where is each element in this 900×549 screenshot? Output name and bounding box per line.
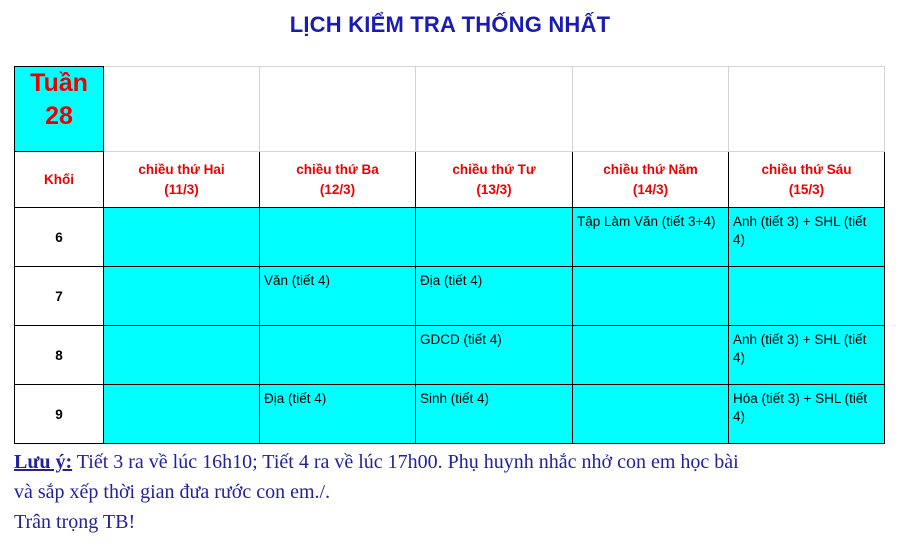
cell-grade7-monday [104,267,260,326]
spacer-cell-3 [416,67,573,152]
footer-note: Lưu ý: Tiết 3 ra về lúc 16h10; Tiết 4 ra… [14,447,894,537]
cell-grade7-tuesday: Văn (tiết 4) [260,267,416,326]
cell-grade6-thursday: Tập Làm Văn (tiết 3+4) [573,208,729,267]
exam-schedule-table: Tuần 28 Khối chiều thứ Hai (11/3) [14,66,885,444]
day-header-tuesday-date: (12/3) [260,180,415,200]
schedule-table-wrapper: Tuần 28 Khối chiều thứ Hai (11/3) [14,66,884,444]
cell-grade6-wednesday [416,208,573,267]
cell-grade8-tuesday [260,326,416,385]
grade-label-9: 9 [15,385,104,444]
day-header-monday-name: chiều thứ Hai [104,160,259,180]
schedule-page: LỊCH KIỂM TRA THỐNG NHẤT Tuần 28 [0,0,900,549]
cell-grade9-thursday [573,385,729,444]
note-line-1-text: Tiết 3 ra về lúc 16h10; Tiết 4 ra về lúc… [72,451,739,473]
cell-grade8-monday [104,326,260,385]
note-line-3: Trân trọng TB! [14,507,894,537]
spacer-cell-4 [573,67,729,152]
cell-grade8-wednesday: GDCD (tiết 4) [416,326,573,385]
cell-grade6-tuesday [260,208,416,267]
day-header-tuesday-name: chiều thứ Ba [260,160,415,180]
day-header-friday: chiều thứ Sáu (15/3) [729,152,885,208]
note-label: Lưu ý: [14,451,72,473]
cell-grade7-friday [729,267,885,326]
day-header-monday: chiều thứ Hai (11/3) [104,152,260,208]
day-header-wednesday: chiều thứ Tư (13/3) [416,152,573,208]
table-row: 8 GDCD (tiết 4) Anh (tiết 3) + SHL (tiết… [15,326,885,385]
note-line-2: và sắp xếp thời gian đưa rước con em./. [14,477,894,507]
table-header-row: Khối chiều thứ Hai (11/3) chiều thứ Ba (… [15,152,885,208]
day-header-thursday-date: (14/3) [573,180,728,200]
spacer-cell-1 [104,67,260,152]
cell-grade8-thursday [573,326,729,385]
table-week-row: Tuần 28 [15,67,885,152]
spacer-cell-5 [729,67,885,152]
cell-grade9-friday: Hóa (tiết 3) + SHL (tiết 4) [729,385,885,444]
cell-grade7-thursday [573,267,729,326]
day-header-monday-date: (11/3) [104,180,259,200]
day-header-thursday-name: chiều thứ Năm [573,160,728,180]
cell-grade9-monday [104,385,260,444]
cell-grade6-monday [104,208,260,267]
cell-grade6-friday: Anh (tiết 3) + SHL (tiết 4) [729,208,885,267]
day-header-friday-name: chiều thứ Sáu [729,160,884,180]
spacer-cell-2 [260,67,416,152]
cell-grade9-tuesday: Địa (tiết 4) [260,385,416,444]
week-cell: Tuần 28 [15,67,104,152]
cell-grade8-friday: Anh (tiết 3) + SHL (tiết 4) [729,326,885,385]
table-row: 9 Địa (tiết 4) Sinh (tiết 4) Hóa (tiết 3… [15,385,885,444]
page-title: LỊCH KIỂM TRA THỐNG NHẤT [0,12,900,38]
week-label: Tuần [15,67,103,100]
cell-grade9-wednesday: Sinh (tiết 4) [416,385,573,444]
grade-label-7: 7 [15,267,104,326]
table-row: 7 Văn (tiết 4) Địa (tiết 4) [15,267,885,326]
day-header-tuesday: chiều thứ Ba (12/3) [260,152,416,208]
note-line-1: Lưu ý: Tiết 3 ra về lúc 16h10; Tiết 4 ra… [14,447,894,477]
day-header-thursday: chiều thứ Năm (14/3) [573,152,729,208]
grade-label-6: 6 [15,208,104,267]
day-header-wednesday-date: (13/3) [416,180,572,200]
day-header-wednesday-name: chiều thứ Tư [416,160,572,180]
cell-grade7-wednesday: Địa (tiết 4) [416,267,573,326]
table-row: 6 Tập Làm Văn (tiết 3+4) Anh (tiết 3) + … [15,208,885,267]
day-header-friday-date: (15/3) [729,180,884,200]
week-number: 28 [15,100,103,133]
grade-column-header: Khối [15,152,104,208]
grade-label-8: 8 [15,326,104,385]
